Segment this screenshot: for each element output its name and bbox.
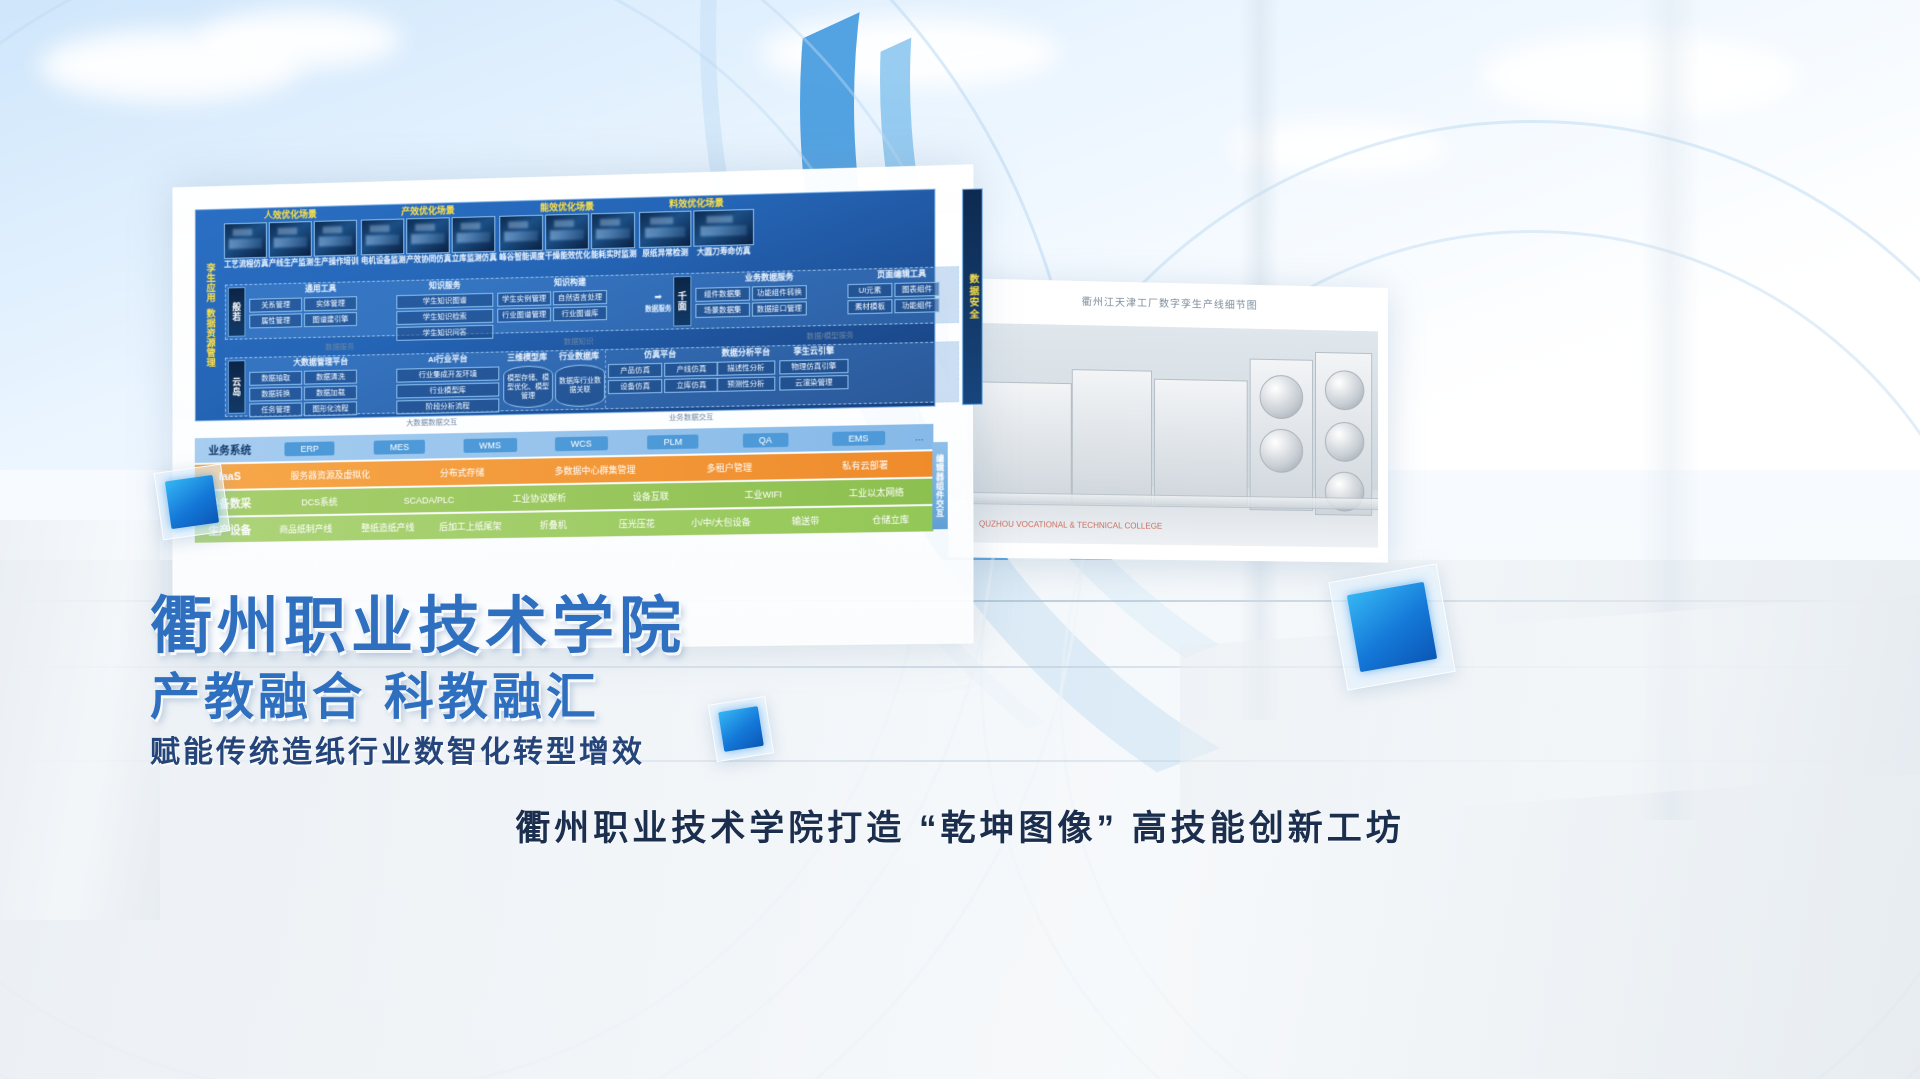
thumb-caption: 大圆刀寿命仿真 <box>693 245 754 258</box>
scene-thumb[interactable]: 干燥能效优化 <box>545 213 589 261</box>
chip[interactable]: 关系管理 <box>249 298 302 313</box>
scene-thumb[interactable]: 大圆刀寿命仿真 <box>693 209 754 258</box>
thumb-caption: 能耗实时监测 <box>591 248 635 260</box>
thumb-caption: 峰谷智能调度 <box>499 251 543 263</box>
cell-pill: ERP <box>285 441 334 456</box>
twin-side-label-bottom: 数据资源管理 <box>204 308 214 367</box>
photo-caption: 衢州江天津工厂数字孪生产线细节图 <box>948 290 1387 315</box>
data-security-bar: 数据安全 <box>962 188 983 405</box>
row-cell[interactable]: 设备互联 <box>595 489 707 504</box>
row-cell[interactable]: WCS <box>536 435 627 451</box>
data-service-arrow-group: ➡ 数据服务 <box>645 274 671 329</box>
chip[interactable]: 物理仿真引擎 <box>779 359 848 375</box>
chip[interactable]: 图形化流程 <box>304 401 357 416</box>
row-cell[interactable]: 压光压花 <box>595 516 679 530</box>
chip[interactable]: 阶段分析流程 <box>396 398 499 414</box>
chip[interactable]: 属性管理 <box>249 313 302 328</box>
cylinder-industry-database[interactable]: 数据库行业数据关联 <box>555 364 605 407</box>
chip[interactable]: UI元素 <box>847 283 892 298</box>
scene-thumb[interactable]: 能耗实时监测 <box>591 212 635 260</box>
yundao-group-ai: AI行业平台 行业集成开发环境 行业模型库 阶段分析流程 <box>394 352 501 412</box>
scene-group-2: 能效优化场景 峰谷智能调度 干燥能效优化 能耗实时监测 <box>497 198 637 276</box>
cell-pill: EMS <box>832 430 885 445</box>
row-cell[interactable]: 仓储立库 <box>848 512 933 527</box>
banruo-group-tools: 通用工具 关系管理 实体管理 属性管理 图谱建引擎 <box>247 281 394 338</box>
thumb-image <box>452 216 496 253</box>
headline-line-2: 产教融合 科教融汇 <box>150 664 910 730</box>
thumb-caption: 生产操作培训 <box>314 255 357 267</box>
chip[interactable]: 功能组件 <box>894 298 939 313</box>
thumb-image <box>224 222 267 259</box>
chip[interactable]: 设备仿真 <box>608 379 662 394</box>
flow-label-data-model-service: 数据/模型服务 <box>807 329 854 341</box>
cylinder-3d-model-library[interactable]: 模型存储、模型优化、模型管理 <box>503 365 553 408</box>
scene-group-0: 人效优化场景 工艺流程仿真 产线生产监测 生产操作培训 <box>222 206 359 283</box>
row-cell[interactable]: 分布式存储 <box>396 465 528 480</box>
thumb-image <box>591 212 635 249</box>
row-cell[interactable]: 私有云部署 <box>797 457 933 473</box>
thumb-caption: 产效协同仿真 <box>406 253 449 265</box>
thumb-image <box>314 220 357 257</box>
stack-rows: 业务系统 ERP MES WMS WCS PLM QA EMS … IaaS <box>195 422 934 543</box>
row-cell[interactable]: QA <box>719 432 812 448</box>
chip[interactable]: 素材模板 <box>847 299 892 314</box>
scene-thumb[interactable]: 工艺流程仿真 <box>224 222 267 270</box>
row-cell[interactable]: WMS <box>445 437 536 453</box>
thumb-image <box>639 211 691 249</box>
headline-block: 衢州职业技术学院 产教融合 科教融汇 赋能传统造纸行业数智化转型增效 <box>150 590 910 776</box>
flow-label: 数据服务 <box>645 302 671 313</box>
chip[interactable]: 产线仿真 <box>664 362 718 377</box>
thumb-image <box>406 217 449 254</box>
sim-platform-group: 仿真平台 产品仿真 产线仿真 设备仿真 立库仿真 <box>605 348 715 409</box>
chip[interactable]: 行业图谱管理 <box>497 307 551 322</box>
chip[interactable]: 自然语言处理 <box>553 290 607 305</box>
chip[interactable]: 描述性分析 <box>717 360 776 375</box>
row-cell[interactable]: 后加工上纸尾架 <box>429 519 512 533</box>
flow-label-data-service: 数据服务 <box>325 341 354 353</box>
cell-pill: PLM <box>648 434 699 449</box>
thumb-caption: 干燥能效优化 <box>545 249 589 261</box>
headline-line-3: 赋能传统造纸行业数智化转型增效 <box>150 730 910 776</box>
data-analysis-group: 数据分析平台 描述性分析 预测性分析 <box>715 346 778 406</box>
chip[interactable]: 立库仿真 <box>664 378 718 393</box>
thumb-caption: 原纸异常检测 <box>639 247 691 259</box>
scene-thumb[interactable]: 立库监测仿真 <box>452 216 496 264</box>
scene-thumb[interactable]: 原纸异常检测 <box>639 211 691 260</box>
chip[interactable]: 数据抽取 <box>249 371 302 386</box>
thumb-caption: 工艺流程仿真 <box>224 258 267 270</box>
floating-glass-tile-1 <box>154 464 231 541</box>
row-cell[interactable]: 服务器资源及虚拟化 <box>265 467 396 482</box>
chip[interactable]: 数据加载 <box>304 385 357 400</box>
chip[interactable]: 预测性分析 <box>717 377 776 392</box>
row-cell[interactable]: EMS <box>812 430 905 446</box>
chip[interactable]: 实体管理 <box>304 296 357 311</box>
chip[interactable]: 功能组件转换 <box>752 285 807 300</box>
banruo-group-knowledge-service: 知识服务 学生知识图谱 学生知识检索 学生知识问答 <box>394 279 495 335</box>
chip[interactable]: 学生实例管理 <box>497 291 551 306</box>
tile-core-icon <box>165 475 219 529</box>
thumb-image <box>693 209 754 247</box>
row-cell[interactable]: DCS系统 <box>265 494 374 509</box>
thumb-image <box>269 221 312 258</box>
row-cell[interactable]: 工业协议解析 <box>484 491 595 506</box>
flow-label-bigdata-exchange: 大数据数据交互 <box>406 416 457 428</box>
chip[interactable]: 云渲染管理 <box>779 375 848 391</box>
yundao-tag: 云岛 <box>228 360 246 414</box>
photo-image: QUZHOU VOCATIONAL & TECHNICAL COLLEGE <box>967 323 1378 548</box>
banruo-tag: 般若 <box>228 287 246 337</box>
twin-application-block: 孪生应用 数据资源管理 人效优化场景 工艺流程仿真 产线生产监测 生产操作培训 <box>195 189 936 422</box>
thumb-image <box>361 218 404 255</box>
row-cell[interactable]: PLM <box>627 434 719 450</box>
cell-pill: MES <box>374 439 425 454</box>
chip[interactable]: 图谱建引擎 <box>304 312 357 327</box>
scene-background: 衢州江天津工厂数字孪生产线细节图 QUZHOU VOCATIONAL & TEC… <box>0 0 1920 1079</box>
twin-cloud-engine-group: 孪生云引擎 物理仿真引擎 云渲染管理 <box>777 345 850 405</box>
twin-side-label: 孪生应用 数据资源管理 <box>196 210 222 421</box>
cell-pill: WCS <box>555 436 608 451</box>
scene-group-3: 料效优化场景 原纸异常检测 大圆刀寿命仿真 <box>637 195 756 273</box>
chip[interactable]: 学生知识问答 <box>396 325 493 341</box>
thumb-caption: 立库监测仿真 <box>452 252 496 264</box>
qianmian-group-business-data: 业务数据服务 组件数据集 功能组件转换 场景数据集 数据接口管理 <box>693 270 845 328</box>
chip[interactable]: 数据转换 <box>249 387 302 402</box>
row-cell[interactable]: ERP <box>265 441 355 457</box>
row-cell[interactable]: 输送带 <box>763 513 848 527</box>
thumb-caption: 产线生产监测 <box>269 257 312 269</box>
chip[interactable]: 数据接口管理 <box>752 301 807 316</box>
scene-thumb[interactable]: 峰谷智能调度 <box>499 215 543 263</box>
row-cell[interactable]: 小/中/大包设备 <box>679 515 763 529</box>
chip[interactable]: 数据清洗 <box>304 370 357 385</box>
chip[interactable]: 任务管理 <box>249 402 302 417</box>
left-wall-panel <box>0 520 160 920</box>
chip[interactable]: 图表组件 <box>894 282 939 297</box>
row-cell[interactable]: 多租户管理 <box>662 460 797 475</box>
row-cell[interactable]: 整纸造纸产线 <box>347 520 429 534</box>
chip[interactable]: 行业模型库 <box>396 382 499 398</box>
row-cell-more[interactable]: … <box>905 431 933 442</box>
twin-side-label-top: 孪生应用 <box>204 263 214 303</box>
tile-core-icon <box>1347 582 1437 672</box>
scene-thumb[interactable]: 产线生产监测 <box>269 221 312 269</box>
row-label: 业务系统 <box>195 437 265 463</box>
chip[interactable]: 组件数据集 <box>695 286 750 301</box>
flow-label-business-exchange: 业务数据交互 <box>669 411 714 423</box>
chip[interactable]: 产品仿真 <box>608 363 662 378</box>
cell-pill: QA <box>743 432 789 447</box>
floating-glass-tile-2 <box>1328 563 1455 690</box>
scene-thumb[interactable]: 产效协同仿真 <box>406 217 449 265</box>
row-cell[interactable]: 工业以太网络 <box>820 485 934 500</box>
scene-thumb[interactable]: 生产操作培训 <box>314 220 357 268</box>
bottom-caption: 衢州职业技术学院打造 “乾坤图像” 高技能创新工坊 <box>0 800 1920 851</box>
thumb-image <box>499 215 543 252</box>
qianmian-group-page-editor: 页面编辑工具 UI元素 图表组件 素材模板 功能组件 <box>845 267 958 324</box>
chip[interactable]: 行业集成开发环境 <box>396 366 499 382</box>
chip[interactable]: 学生知识图谱 <box>396 293 493 309</box>
scene-group-1: 产效优化场景 电机设备监测 产效协同仿真 立库监测仿真 <box>359 202 497 279</box>
row-cell[interactable]: 折叠机 <box>512 518 595 532</box>
industry-database: 行业数据库 数据库行业数据关联 <box>553 350 605 409</box>
chip[interactable]: 场景数据集 <box>695 303 750 318</box>
qianmian-tag: 千面 <box>673 276 691 327</box>
thumb-image <box>545 213 589 250</box>
banruo-group-knowledge-build: 知识构建 学生实例管理 自然语言处理 行业图谱管理 行业图谱库 <box>495 275 645 333</box>
arrow-right-icon: ➡ <box>645 291 671 303</box>
scene-thumb[interactable]: 电机设备监测 <box>361 218 404 266</box>
model-library: 三维模型库 模型存储、模型优化、模型管理 <box>501 351 553 410</box>
row-cell[interactable]: MES <box>355 439 445 455</box>
editor-component-interaction-bar: 编辑器组件交互 <box>932 442 947 529</box>
headline-line-1: 衢州职业技术学院 <box>150 590 910 664</box>
digital-twin-photo-panel[interactable]: 衢州江天津工厂数字孪生产线细节图 QUZHOU VOCATIONAL & TEC… <box>948 278 1387 563</box>
architecture-diagram: 孪生应用 数据资源管理 人效优化场景 工艺流程仿真 产线生产监测 生产操作培训 <box>195 188 950 554</box>
cell-pill: WMS <box>463 437 517 452</box>
flow-label-data-knowledge: 数据知识 <box>564 335 594 347</box>
thumb-caption: 电机设备监测 <box>361 254 404 266</box>
chip[interactable]: 学生知识检索 <box>396 309 493 325</box>
row-cell[interactable]: 工业WIFI <box>707 487 820 502</box>
row-cell[interactable]: SCADA/PLC <box>374 494 484 506</box>
chip[interactable]: 行业图谱库 <box>553 306 607 321</box>
row-cell[interactable]: 商品纸制产线 <box>265 522 347 536</box>
architecture-diagram-board[interactable]: 孪生应用 数据资源管理 人效优化场景 工艺流程仿真 产线生产监测 生产操作培训 <box>173 164 974 652</box>
row-cell[interactable]: 多数据中心群集管理 <box>528 462 662 477</box>
yundao-group-bigdata: 大数据管理平台 数据抽取 数据清洗 数据转换 数据加载 <box>247 355 394 416</box>
